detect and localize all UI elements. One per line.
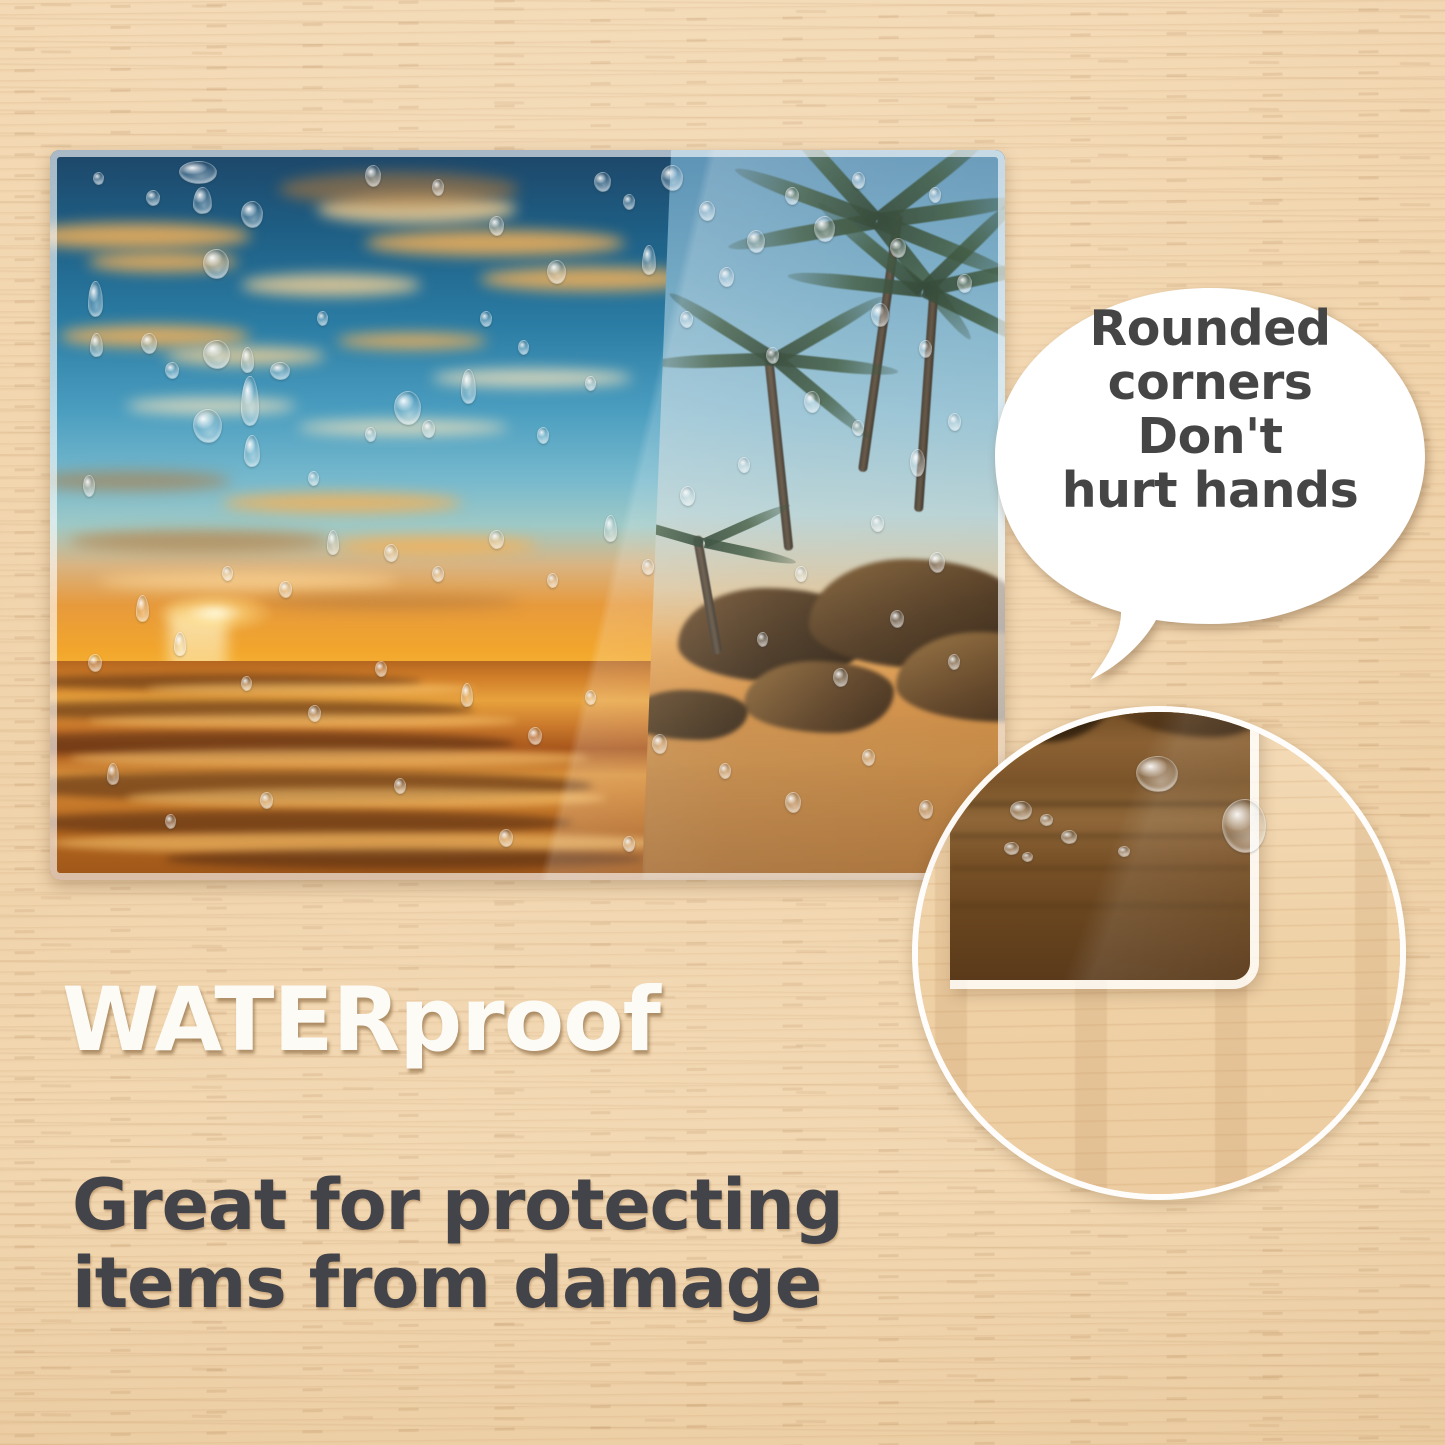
rounded-corner-magnifier — [912, 706, 1406, 1200]
beach-sunset-photo — [50, 150, 1005, 880]
speech-bubble: Rounded corners Don't hurt hands — [995, 268, 1445, 688]
magnified-gloss — [950, 706, 1250, 980]
headline-proof: proof — [399, 968, 660, 1071]
setting-sun — [155, 592, 275, 634]
subheadline-line-2: items from damage — [72, 1244, 843, 1322]
subheadline-line-1: Great for protecting — [72, 1166, 843, 1244]
headline-water: WATER — [62, 968, 399, 1071]
waterproof-placemat — [50, 150, 1005, 880]
magnified-mat-corner — [950, 706, 1259, 989]
product-marketing-image: Rounded corners Don't hurt hands WATERpr… — [0, 0, 1445, 1445]
subheadline: Great for protecting items from damage — [72, 1166, 843, 1323]
headline-waterproof: WATERproof — [62, 968, 660, 1071]
